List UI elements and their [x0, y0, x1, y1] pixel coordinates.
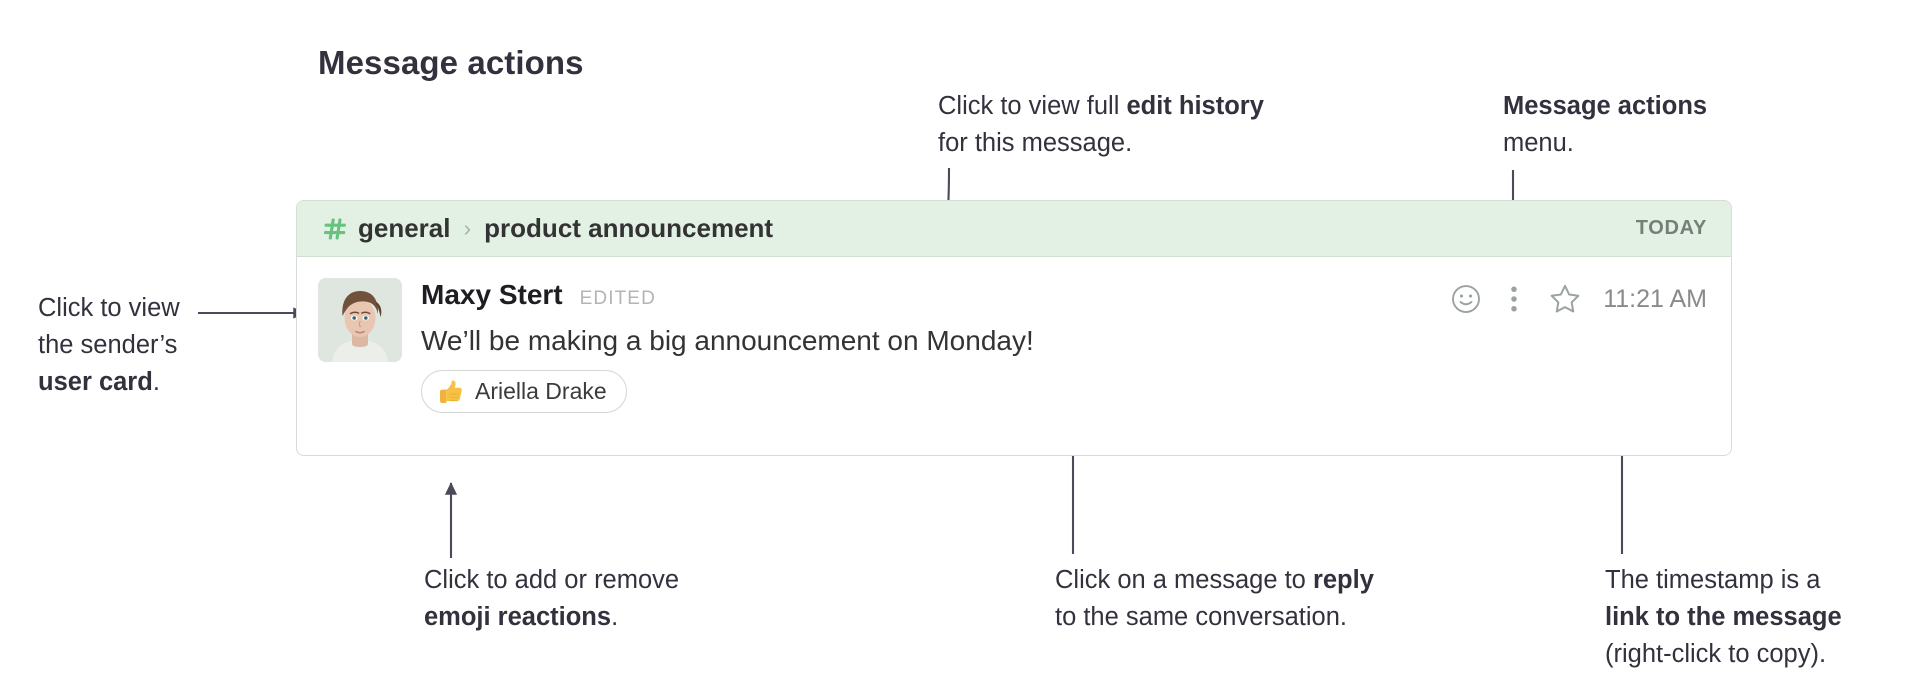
reaction-pill[interactable]: Ariella Drake	[421, 370, 627, 413]
annotation-edit-history: Click to view full edit history for this…	[938, 88, 1358, 162]
annotation-timestamp-emphasis: link to the message	[1605, 603, 1842, 631]
annotation-edit-history-emphasis: edit history	[1126, 92, 1263, 120]
annotation-reply-emphasis: reply	[1313, 566, 1374, 594]
annotation-emoji-tail: .	[611, 603, 618, 631]
annotation-actions-menu-emphasis: Message actions	[1503, 92, 1707, 120]
message-content[interactable]: We’ll be making a big announcement on Mo…	[421, 323, 1707, 359]
message-row[interactable]: Maxy Stert EDITED We’ll be making a big …	[297, 257, 1731, 413]
annotation-timestamp: The timestamp is a link to the message (…	[1605, 562, 1924, 673]
hash-icon	[323, 217, 347, 241]
annotation-user-card-tail: .	[153, 368, 160, 396]
recipient-date[interactable]: TODAY	[1636, 217, 1707, 240]
annotation-user-card: Click to view the sender’s user card.	[38, 290, 268, 401]
annotation-emoji-reactions: Click to add or remove emoji reactions.	[424, 562, 824, 636]
reaction-list: Ariella Drake	[421, 370, 1707, 413]
star-icon[interactable]	[1549, 283, 1581, 315]
thumbs-up-emoji	[435, 377, 465, 407]
emoji-reaction-icon[interactable]	[1451, 284, 1481, 314]
message-card: general › product announcement TODAY	[296, 200, 1732, 456]
annotation-actions-menu-tail: menu.	[1503, 129, 1574, 157]
annotation-reply-tail: to the same conversation.	[1055, 603, 1347, 631]
annotation-reply-lead: Click on a message to	[1055, 566, 1313, 594]
recipient-bar[interactable]: general › product announcement TODAY	[297, 201, 1731, 257]
annotation-user-card-emphasis: user card	[38, 368, 153, 396]
topic-name[interactable]: product announcement	[484, 213, 773, 244]
annotation-actions-menu: Message actions menu.	[1503, 88, 1833, 162]
annotation-reply: Click on a message to reply to the same …	[1055, 562, 1485, 636]
annotation-edit-history-tail: for this message.	[938, 129, 1132, 157]
stream-name[interactable]: general	[358, 213, 451, 244]
annotation-timestamp-tail: (right-click to copy).	[1605, 640, 1826, 668]
reaction-label: Ariella Drake	[475, 378, 607, 405]
message-controls: 11:21 AM	[1451, 283, 1707, 315]
page-title: Message actions	[318, 44, 584, 82]
breadcrumb-separator-icon: ›	[464, 217, 472, 240]
sender-name[interactable]: Maxy Stert	[421, 279, 563, 311]
edited-marker[interactable]: EDITED	[580, 288, 656, 310]
avatar[interactable]	[318, 278, 402, 362]
vertical-dots-icon[interactable]	[1509, 284, 1519, 314]
annotation-timestamp-lead: The timestamp is a	[1605, 566, 1820, 594]
annotation-user-card-lead: Click to view the sender’s	[38, 294, 180, 359]
message-timestamp[interactable]: 11:21 AM	[1603, 285, 1707, 314]
annotation-edit-history-lead: Click to view full	[938, 92, 1126, 120]
annotation-emoji-lead: Click to add or remove	[424, 566, 679, 594]
annotation-emoji-emphasis: emoji reactions	[424, 603, 611, 631]
